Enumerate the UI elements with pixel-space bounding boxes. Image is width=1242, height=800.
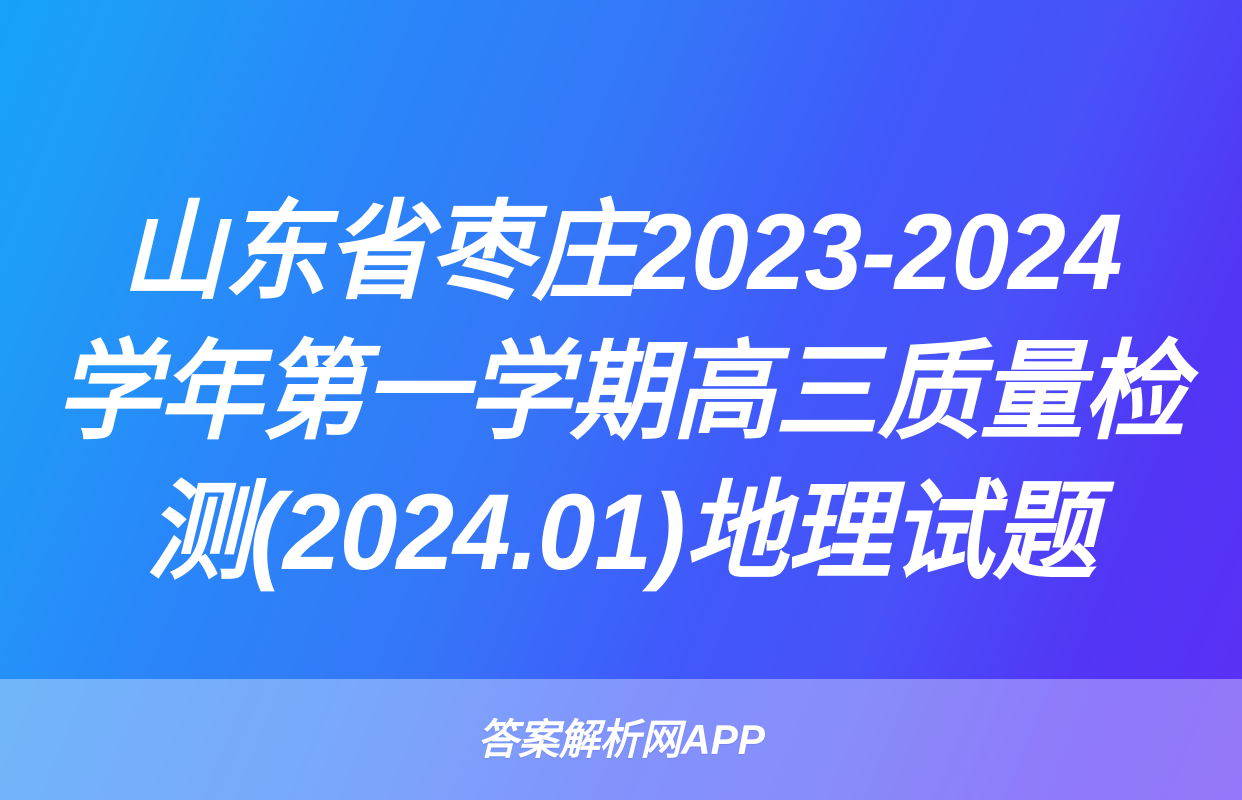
headline-line-3: 测(2024.01)地理试题	[147, 462, 1096, 602]
headline-line-1: 山东省枣庄2023-2024	[121, 182, 1122, 322]
exam-title-poster: 山东省枣庄2023-2024 学年第一学期高三质量检 测(2024.01)地理试…	[0, 0, 1242, 800]
headline-block: 山东省枣庄2023-2024 学年第一学期高三质量检 测(2024.01)地理试…	[0, 182, 1242, 602]
footer-brand-band: 答案解析网APP	[0, 679, 1242, 800]
headline-line-2: 学年第一学期高三质量检	[56, 322, 1186, 462]
footer-brand-label: 答案解析网APP	[477, 715, 764, 765]
